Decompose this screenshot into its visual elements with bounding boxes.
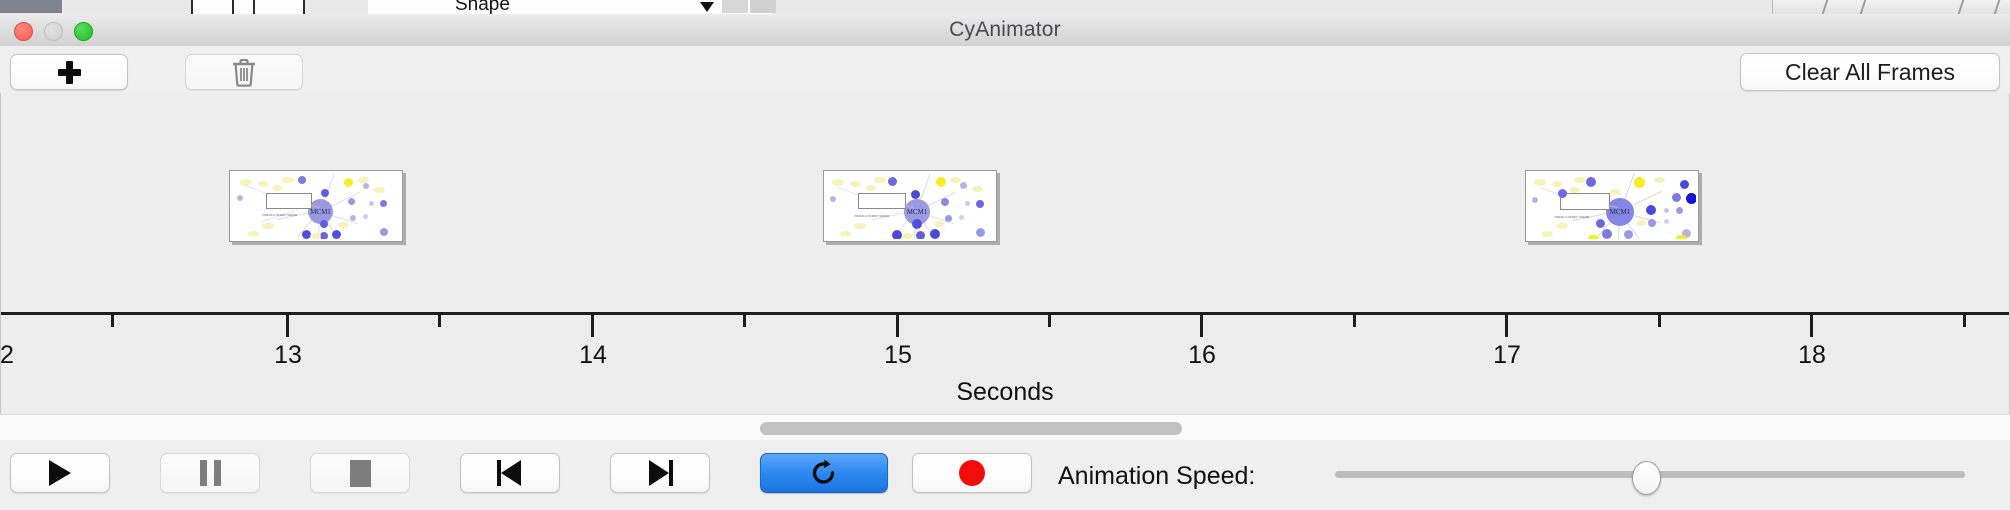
- scrollbar-thumb[interactable]: [760, 422, 1182, 435]
- loop-icon: [809, 458, 839, 488]
- animation-speed-slider-thumb[interactable]: [1632, 461, 1661, 495]
- axis-tick-minor: [111, 315, 114, 327]
- axis-tick-minor: [1048, 315, 1051, 327]
- delete-frame-button[interactable]: [185, 54, 303, 90]
- stop-icon: [350, 460, 371, 487]
- axis-tick-minor: [438, 315, 441, 327]
- axis-tick-minor: [743, 315, 746, 327]
- hub-node: MCM1: [1606, 198, 1634, 226]
- frame-thumbnail[interactable]: MCM1 YFR034C-A YPL256C YLR403W: [1525, 170, 1699, 242]
- window-title: CyAnimator: [0, 14, 2010, 46]
- axis-tick-major: [286, 315, 289, 337]
- timeline-scrollbar[interactable]: [0, 414, 2010, 442]
- title-bar[interactable]: CyAnimator: [0, 14, 2010, 47]
- stop-button[interactable]: [310, 453, 410, 493]
- node-tooltip: [266, 193, 312, 209]
- timeline-axis: [1, 312, 2010, 315]
- plus-icon: [57, 60, 82, 85]
- add-frame-button[interactable]: [10, 54, 128, 90]
- node-tooltip: [858, 193, 906, 209]
- axis-tick-minor: [1963, 315, 1966, 327]
- axis-tick-major: [591, 315, 594, 337]
- skip-forward-button[interactable]: [610, 453, 710, 493]
- axis-tick-label: 14: [579, 341, 607, 370]
- record-icon: [959, 460, 985, 486]
- axis-tick-major: [1505, 315, 1508, 337]
- axis-tick-label: 18: [1798, 341, 1826, 370]
- background-window-strip: Shape: [0, 0, 2010, 14]
- background-window-label: Shape: [455, 0, 510, 14]
- frame-thumbnail[interactable]: MCM1 YFR034C-A YPL256C YLR403W: [823, 170, 997, 242]
- axis-tick-major: [896, 315, 899, 337]
- axis-tick-major: [1810, 315, 1813, 337]
- axis-tick-label: 13: [274, 341, 302, 370]
- node-tooltip: [1560, 193, 1610, 210]
- axis-tick-label: 17: [1493, 341, 1521, 370]
- timeline-panel[interactable]: MCM1 YFR034C-A YPL256C YLR403W: [0, 93, 2010, 414]
- axis-tick-label: 16: [1188, 341, 1216, 370]
- play-button[interactable]: [10, 453, 110, 493]
- loop-button[interactable]: [760, 453, 888, 493]
- skip-back-icon: [497, 460, 523, 486]
- axis-title: Seconds: [1, 378, 2009, 407]
- pause-icon: [200, 460, 221, 486]
- clear-all-frames-button[interactable]: Clear All Frames: [1740, 53, 2000, 91]
- pause-button[interactable]: [160, 453, 260, 493]
- axis-tick-minor: [1658, 315, 1661, 327]
- playback-control-bar: Animation Speed:: [0, 440, 2010, 510]
- toolbar: Clear All Frames: [0, 46, 2010, 94]
- axis-tick-label: 15: [884, 341, 912, 370]
- record-button[interactable]: [912, 453, 1032, 493]
- skip-forward-icon: [647, 460, 673, 486]
- skip-back-button[interactable]: [460, 453, 560, 493]
- frame-network-preview: MCM1 YFR034C-A YPL256C YLR403W: [1528, 173, 1696, 239]
- play-icon: [49, 460, 71, 486]
- frame-thumbnail[interactable]: MCM1 YFR034C-A YPL256C YLR403W: [229, 170, 403, 242]
- axis-tick-minor: [1353, 315, 1356, 327]
- frame-network-preview: MCM1 YFR034C-A YPL256C YLR403W: [232, 173, 400, 239]
- frame-network-preview: MCM1 YFR034C-A YPL256C YLR403W: [826, 173, 994, 239]
- cyanimator-window: Shape CyAnimator Clear All Frames: [0, 0, 2010, 510]
- axis-tick-major: [1200, 315, 1203, 337]
- animation-speed-label: Animation Speed:: [1058, 462, 1255, 491]
- axis-tick-label: 2: [0, 341, 14, 370]
- trash-icon: [231, 58, 257, 87]
